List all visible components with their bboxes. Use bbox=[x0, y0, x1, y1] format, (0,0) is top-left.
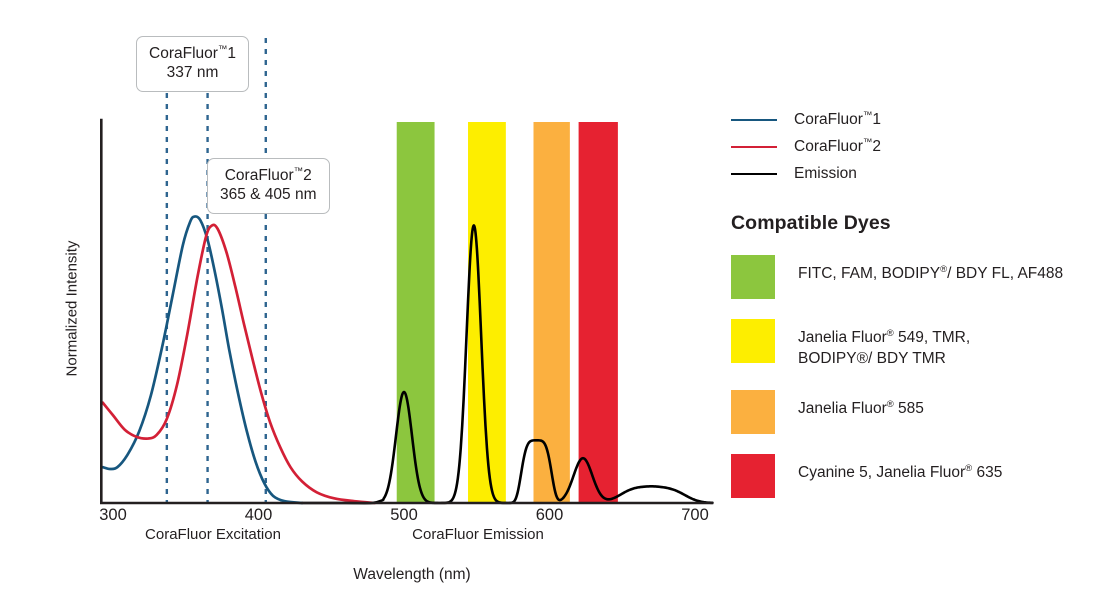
curve-corafluor1 bbox=[103, 216, 302, 503]
sublabel-excitation: CoraFluor Excitation bbox=[63, 526, 363, 543]
sublabel-emission: CoraFluor Emission bbox=[328, 526, 628, 543]
curve-corafluor2 bbox=[103, 225, 375, 503]
legend-item-label: Emission bbox=[794, 165, 857, 183]
red-band bbox=[579, 122, 618, 503]
callout-cf2-line1: CoraFluor™2 bbox=[220, 166, 317, 186]
dye-item-1[interactable]: FITC, FAM, BODIPY®/ BDY FL, AF488 bbox=[731, 255, 1101, 299]
green-band bbox=[397, 122, 435, 503]
orange-band bbox=[533, 122, 569, 503]
dye-item-label: Janelia Fluor® 585 bbox=[798, 390, 924, 420]
x-axis-title: Wavelength (nm) bbox=[262, 566, 562, 584]
y-axis-title: Normalized Intensity bbox=[64, 219, 81, 399]
callout-cf1-line2: 337 nm bbox=[149, 64, 236, 83]
callout-corafluor1: CoraFluor™1 337 nm bbox=[136, 36, 249, 92]
dye-item-label: FITC, FAM, BODIPY®/ BDY FL, AF488 bbox=[798, 255, 1063, 285]
legend-line-swatch bbox=[731, 119, 777, 121]
x-tick-700: 700 bbox=[655, 506, 735, 525]
trademark-icon: ™ bbox=[863, 137, 873, 148]
legend-item-label: CoraFluor™2 bbox=[794, 137, 881, 156]
compatible-dyes-list: FITC, FAM, BODIPY®/ BDY FL, AF488Janelia… bbox=[731, 255, 1101, 498]
callout-cf2-line2: 365 & 405 nm bbox=[220, 186, 317, 205]
dye-item-2[interactable]: Janelia Fluor® 549, TMR,BODIPY®/ BDY TMR bbox=[731, 319, 1101, 370]
x-tick-500: 500 bbox=[364, 506, 444, 525]
registered-icon: ® bbox=[887, 328, 894, 339]
trademark-icon: ™ bbox=[218, 44, 228, 55]
legend-item-2[interactable]: CoraFluor™2 bbox=[731, 133, 1101, 160]
dye-color-swatch bbox=[731, 454, 775, 498]
dye-color-swatch bbox=[731, 255, 775, 299]
emission-bands bbox=[397, 122, 618, 503]
callout-corafluor2: CoraFluor™2 365 & 405 nm bbox=[207, 158, 330, 214]
legend-item-3[interactable]: Emission bbox=[731, 160, 1101, 187]
x-tick-300: 300 bbox=[73, 506, 153, 525]
trademark-icon: ™ bbox=[863, 110, 873, 121]
spectral-chart: CoraFluor™1 337 nm CoraFluor™2 365 & 405… bbox=[0, 0, 1110, 612]
dye-item-4[interactable]: Cyanine 5, Janelia Fluor® 635 bbox=[731, 454, 1101, 498]
dye-item-label: Cyanine 5, Janelia Fluor® 635 bbox=[798, 454, 1002, 484]
curve-emission bbox=[302, 225, 712, 503]
legend-item-1[interactable]: CoraFluor™1 bbox=[731, 106, 1101, 133]
legend-item-label: CoraFluor™1 bbox=[794, 110, 881, 129]
dye-item-3[interactable]: Janelia Fluor® 585 bbox=[731, 390, 1101, 434]
dye-color-swatch bbox=[731, 390, 775, 434]
registered-icon: ® bbox=[887, 399, 894, 410]
dye-item-label: Janelia Fluor® 549, TMR,BODIPY®/ BDY TMR bbox=[798, 319, 970, 370]
excitation-marker-lines bbox=[167, 38, 266, 503]
dye-color-swatch bbox=[731, 319, 775, 363]
legend-series-list: CoraFluor™1CoraFluor™2Emission bbox=[731, 106, 1101, 187]
x-tick-600: 600 bbox=[510, 506, 590, 525]
x-tick-400: 400 bbox=[219, 506, 299, 525]
legend: CoraFluor™1CoraFluor™2Emission Compatibl… bbox=[731, 106, 1101, 498]
compatible-dyes-title: Compatible Dyes bbox=[731, 212, 1101, 235]
registered-icon: ® bbox=[940, 264, 947, 275]
legend-line-swatch bbox=[731, 146, 777, 148]
callout-cf1-line1: CoraFluor™1 bbox=[149, 44, 236, 64]
registered-icon: ® bbox=[965, 463, 972, 474]
trademark-icon: ™ bbox=[294, 166, 304, 177]
legend-line-swatch bbox=[731, 173, 777, 175]
